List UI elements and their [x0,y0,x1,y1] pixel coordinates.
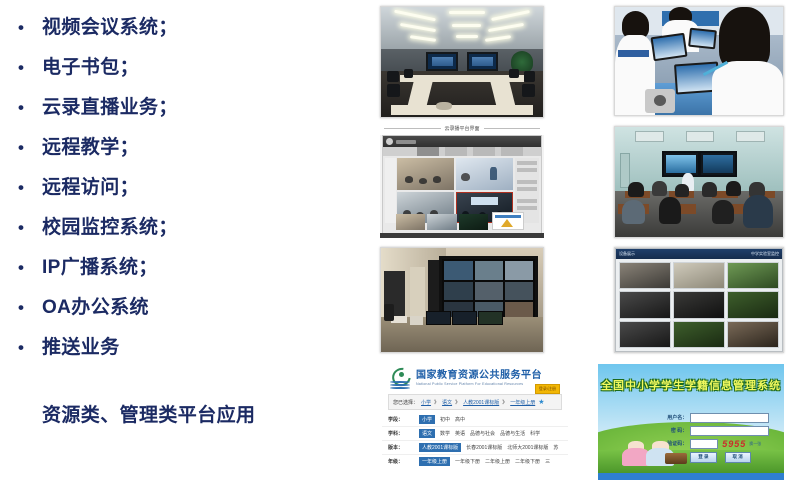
camera-cell[interactable] [727,321,779,348]
photo-content [615,127,783,237]
list-item-label: 远程访问； [42,172,139,199]
video-cell[interactable] [397,158,454,190]
refresh-captcha-link[interactable]: 换一张 [749,441,761,447]
breadcrumb-item-1[interactable]: 语文 [442,399,452,406]
student [652,181,667,196]
air-conditioner [736,131,765,142]
app-title-placeholder [396,140,416,144]
filter-option[interactable]: 品德与生活 [500,430,525,437]
photo-content: 全国中小学学生学籍信息管理系统 用户名： 密 码： 验证码： 5955 换一张 [598,364,784,480]
image-caption: 云录播平台界面 [380,122,544,135]
list-item-label: 电子书包； [42,52,139,79]
site-title-block: 国家教育资源公共服务平台 National Public Service Pla… [416,370,542,386]
bullet-icon: • [14,299,28,316]
filter-option[interactable]: 英语 [455,430,465,437]
student-foreground [743,195,773,228]
caption-text: 云录播平台界面 [445,125,480,132]
bullet-icon: • [14,339,28,356]
list-item: • 云录直播业务； [0,92,372,132]
filter-row-stage: 学段： 小学 初中 高中 [382,413,568,427]
breadcrumb: 您已选择： 小学 》 语文 》 人教2001课标版 》 一年级上册 ★ [388,394,562,410]
bullet-icon: • [14,19,28,36]
image-students-tablets [614,6,784,116]
captcha-input[interactable] [690,439,718,449]
student-body-foreground [712,61,783,115]
app-titlebar [383,136,541,147]
display-screen-right [467,52,499,71]
filter-option[interactable]: 一年级下册 [455,458,480,465]
list-item-label: OA办公系统 [42,292,149,319]
image-student-registry-system: 全国中小学学生学籍信息管理系统 用户名： 密 码： 验证码： 5955 换一张 [598,364,784,480]
filter-option[interactable]: 初中 [440,416,450,423]
desk-monitor [478,311,503,325]
list-item-label: IP广播系统； [42,252,158,279]
desk-monitor [452,311,477,325]
door [620,153,630,188]
filter-option[interactable]: 苏 [553,444,558,451]
favorite-star-icon[interactable]: ★ [538,398,544,406]
breadcrumb-separator: 》 [455,399,460,406]
tab-live[interactable] [417,147,439,156]
filter-option-selected[interactable]: 语文 [419,429,435,438]
bullet-icon: • [14,219,28,236]
titlebar-right-label: 中学实验室监控 [751,251,779,257]
site-title-cn: 国家教育资源公共服务平台 [416,370,542,382]
filter-option[interactable]: 品德与社会 [470,430,495,437]
username-label: 用户名： [661,414,687,421]
list-item-label: 远程教学； [42,132,139,159]
system-title: 全国中小学学生学籍信息管理系统 [598,377,784,393]
tab-settings[interactable] [501,147,523,156]
projection-screen-right [699,151,737,177]
filter-option[interactable]: 科学 [530,430,540,437]
password-label: 密 码： [661,427,687,434]
filter-option[interactable]: 长春2001课标版 [466,444,502,451]
photo-content [381,248,543,352]
breadcrumb-item-2[interactable]: 人教2001课标版 [463,399,499,406]
app-statusbar [380,233,544,238]
uniform-stripe [618,50,648,56]
image-cloud-recording-platform: 云录播平台界面 [380,122,544,238]
camera-cell[interactable] [673,262,725,289]
list-item-label: 推送业务 [42,332,120,359]
photo-content [615,7,783,115]
filter-option[interactable]: 高中 [455,416,465,423]
camera-cell[interactable] [619,262,671,289]
filter-row-grade: 年级： 一年级上册 一年级下册 二年级上册 二年级下册 三 [382,455,568,468]
camera-cell[interactable] [727,262,779,289]
app-left-panel [385,158,396,223]
summary-text: 资源类、管理类平台应用 [42,400,255,427]
bullet-icon: • [14,59,28,76]
breadcrumb-item-0[interactable]: 小学 [421,399,431,406]
filter-option[interactable]: 二年级上册 [485,458,510,465]
video-thumbnail-strip[interactable] [396,214,488,230]
image-equipment-monitor: 设备展示 中学实验室监控 [614,247,784,353]
desk-phone [410,316,423,325]
username-row: 用户名： [661,413,769,423]
captcha-image: 5955 [722,439,746,449]
filter-option-selected[interactable]: 人教2001课标版 [419,443,461,452]
student-foreground [712,200,734,224]
list-item-label: 云录直播业务； [42,92,178,119]
image-edu-resource-platform: 国家教育资源公共服务平台 National Public Service Pla… [382,362,568,480]
camera-cell[interactable] [619,291,671,318]
tablet-device[interactable] [688,27,717,49]
breadcrumb-separator: 》 [434,399,439,406]
platform-logo-icon [390,368,412,388]
student-foreground [659,197,681,223]
bullet-icon: • [14,259,28,276]
bullet-icon: • [14,99,28,116]
slide-preview-thumbnail[interactable] [492,212,524,230]
cancel-button[interactable]: 取 消 [725,452,751,463]
filter-option-selected[interactable]: 一年级上册 [419,457,450,466]
student [702,182,717,197]
login-register-tag[interactable]: 登录/注册 [535,384,560,394]
filter-option[interactable]: 二年级下册 [515,458,540,465]
image-video-conference-room [380,6,544,118]
bullet-icon: • [14,139,28,156]
list-item: • 视频会议系统； [0,12,372,52]
tab-course[interactable] [473,147,495,156]
captcha-row: 验证码： 5955 换一张 [661,439,769,449]
camera-cell[interactable] [619,321,671,348]
filter-key: 学科： [388,430,414,437]
image-surveillance-control-room [380,247,544,353]
student-foreground [622,200,646,224]
breadcrumb-item-3[interactable]: 一年级上册 [510,399,535,406]
photo-content: 国家教育资源公共服务平台 National Public Service Pla… [382,362,568,480]
monitor-titlebar: 设备展示 中学实验室监控 [616,249,782,259]
student [675,184,688,197]
desk-monitor [426,311,451,325]
filter-option[interactable]: 北师大2001课标版 [507,444,548,451]
filter-row-edition: 版本： 人教2001课标版 长春2001课标版 北师大2001课标版 苏 [382,441,568,455]
filter-key: 版本： [388,444,414,451]
camera-grid [619,262,779,348]
tree-stump [665,453,687,463]
image-remote-classroom [614,126,784,238]
list-item: • 远程访问； [0,172,372,212]
camera-cell[interactable] [673,321,725,348]
filter-option-selected[interactable]: 小学 [419,415,435,424]
login-button[interactable]: 登 录 [690,452,716,463]
camera-cell[interactable] [727,291,779,318]
student [726,181,741,196]
tab-record[interactable] [445,147,467,156]
slide-canvas: • 视频会议系统； • 电子书包； • 云录直播业务； • 远程教学； • 远程… [0,0,786,485]
site-title-en: National Public Service Platform For Edu… [416,382,542,386]
breadcrumb-label: 您已选择： [393,399,418,406]
app-logo-icon [386,138,393,145]
camera-cell[interactable] [673,291,725,318]
filter-row-subject: 学科： 语文 数学 英语 品德与社会 品德与生活 科学 [382,427,568,441]
list-item: • OA办公系统 [0,292,372,332]
filter-option[interactable]: 三 [545,458,550,465]
display-screen-left [426,52,458,71]
list-item: • 电子书包； [0,52,372,92]
app-tabs[interactable] [383,147,541,156]
bullet-icon: • [14,179,28,196]
password-input[interactable] [690,426,769,436]
photo-content [381,7,543,117]
air-conditioner [635,131,664,142]
student [628,182,643,197]
water-strip [598,473,784,480]
breadcrumb-separator: 》 [502,399,507,406]
photo-content: 设备展示 中学实验室监控 [615,248,783,352]
list-item: • 推送业务 [0,332,372,372]
list-item: • IP广播系统； [0,252,372,292]
air-conditioner [686,131,715,142]
list-item: • 校园监控系统； [0,212,372,252]
tablet-device[interactable] [650,33,687,61]
filter-key: 年级： [388,458,414,465]
list-item: • 远程教学； [0,132,372,172]
video-cell[interactable] [456,158,513,190]
filter-option[interactable]: 数学 [440,430,450,437]
projection-screen-left [662,151,700,177]
joystick [384,304,394,321]
camera-device [645,89,675,113]
photo-content: 云录播平台界面 [380,122,544,238]
titlebar-left-label: 设备展示 [619,251,635,257]
password-row: 密 码： [661,426,769,436]
list-item-label: 校园监控系统； [42,212,178,239]
username-input[interactable] [690,413,769,423]
list-item-label: 视频会议系统； [42,12,178,39]
filter-key: 学段： [388,416,414,423]
form-buttons: 登 录 取 消 [690,452,769,463]
